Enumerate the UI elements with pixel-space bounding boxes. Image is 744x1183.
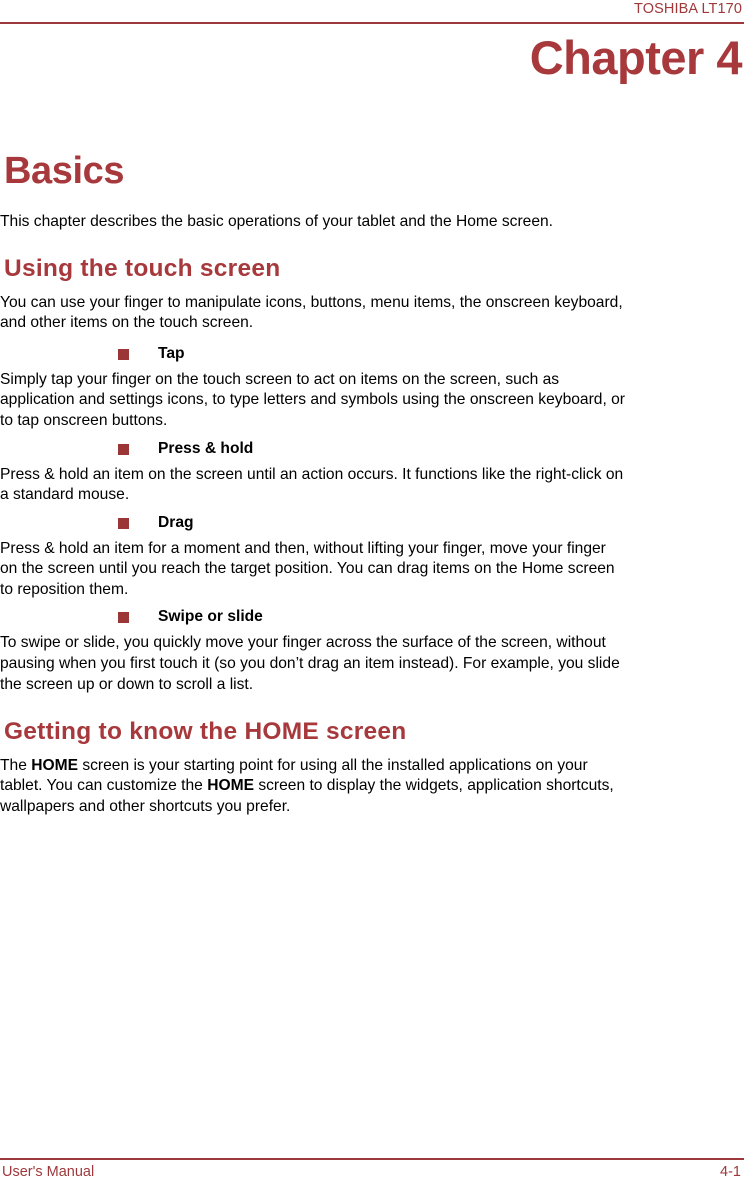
bullet-item-drag: Drag: [118, 512, 744, 533]
square-bullet-icon: [118, 349, 129, 360]
footer-page-number: 4-1: [720, 1164, 741, 1180]
document-content: Basics This chapter describes the basic …: [0, 152, 744, 817]
bullet-label-swipe-or-slide: Swipe or slide: [158, 606, 744, 627]
bullet-item-swipe-or-slide: Swipe or slide: [118, 606, 744, 627]
heading-basics: Basics: [0, 152, 744, 192]
bullet-label-drag: Drag: [158, 512, 744, 533]
paragraph-drag-description: Press & hold an item for a moment and th…: [0, 539, 626, 601]
paragraph-press-and-hold-description: Press & hold an item on the screen until…: [0, 465, 626, 506]
header-divider: [0, 22, 744, 24]
bullet-item-tap: Tap: [118, 343, 744, 364]
heading-getting-to-know-the-home-screen: Getting to know the HOME screen: [0, 718, 744, 745]
page-footer: User's Manual 4-1: [0, 1150, 744, 1183]
bullet-item-press-and-hold: Press & hold: [118, 438, 744, 459]
square-bullet-icon: [118, 612, 129, 623]
chapter-title: Chapter 4: [530, 34, 742, 81]
paragraph-tap-description: Simply tap your finger on the touch scre…: [0, 370, 626, 432]
bullet-label-tap: Tap: [158, 343, 744, 364]
square-bullet-icon: [118, 518, 129, 529]
home-keyword-1: HOME: [31, 757, 78, 774]
product-name: TOSHIBA LT170: [634, 1, 742, 17]
page-header: TOSHIBA LT170: [0, 0, 744, 26]
heading-using-the-touch-screen: Using the touch screen: [0, 255, 744, 282]
square-bullet-icon: [118, 444, 129, 455]
paragraph-basics-intro: This chapter describes the basic operati…: [0, 212, 626, 233]
paragraph-touchscreen-intro: You can use your finger to manipulate ic…: [0, 293, 626, 334]
footer-manual-label: User's Manual: [2, 1164, 94, 1180]
footer-divider: [0, 1158, 744, 1160]
home-keyword-2: HOME: [207, 777, 254, 794]
home-text-part-1: The: [0, 757, 31, 774]
bullet-label-press-and-hold: Press & hold: [158, 438, 744, 459]
paragraph-swipe-or-slide-description: To swipe or slide, you quickly move your…: [0, 633, 626, 695]
document-page: { "header": { "product": "TOSHIBA LT170"…: [0, 0, 744, 1183]
paragraph-home-screen-description: The HOME screen is your starting point f…: [0, 756, 626, 818]
